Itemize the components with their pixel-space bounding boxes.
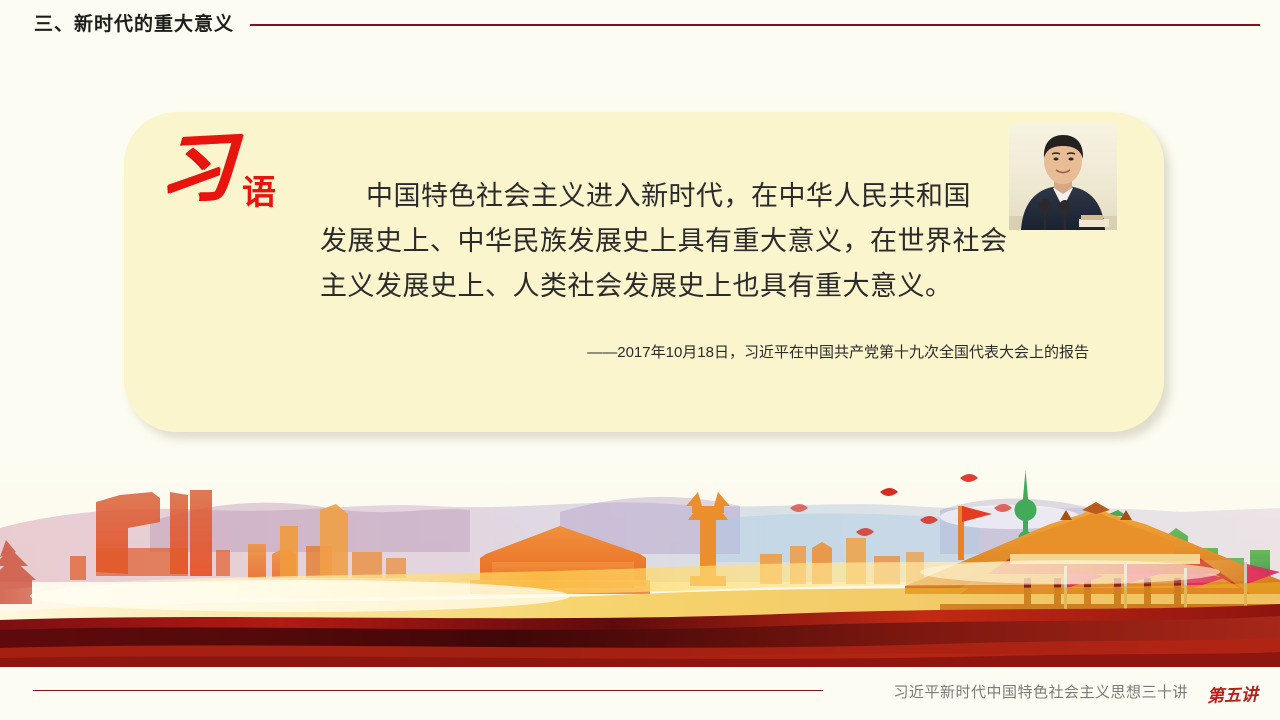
xiyu-logo-main-character: 习 — [159, 130, 236, 208]
xiyu-logo: 习 语 — [160, 132, 310, 224]
quote-line: 主义发展史上、人类社会发展史上也具有重大意义。 — [320, 264, 980, 309]
footer-lecture-seal: 第五讲 — [1207, 680, 1259, 707]
header-divider-rule — [250, 24, 1260, 26]
footer-divider-rule — [33, 690, 823, 691]
quote-card: 习 语 — [124, 112, 1164, 432]
quote-line: 发展史上、中华民族发展史上具有重大意义，在世界社会 — [320, 219, 980, 264]
page-title: 三、新时代的重大意义 — [34, 9, 234, 36]
city-skyline-illustration — [0, 462, 1280, 667]
footer-series-title: 习近平新时代中国特色社会主义思想三十讲 — [893, 681, 1188, 702]
quote-line: 中国特色社会主义进入新时代，在中华人民共和国 — [320, 174, 980, 219]
slide-header: 三、新时代的重大意义 — [0, 0, 1280, 46]
quote-text-block: 中国特色社会主义进入新时代，在中华人民共和国 发展史上、中华民族发展史上具有重大… — [320, 174, 980, 309]
xiyu-logo-sub-character: 语 — [242, 176, 276, 210]
speaker-portrait-photo — [1009, 124, 1117, 230]
quote-attribution: ——2017年10月18日，习近平在中国共产党第十九次全国代表大会上的报告 — [389, 341, 1089, 362]
